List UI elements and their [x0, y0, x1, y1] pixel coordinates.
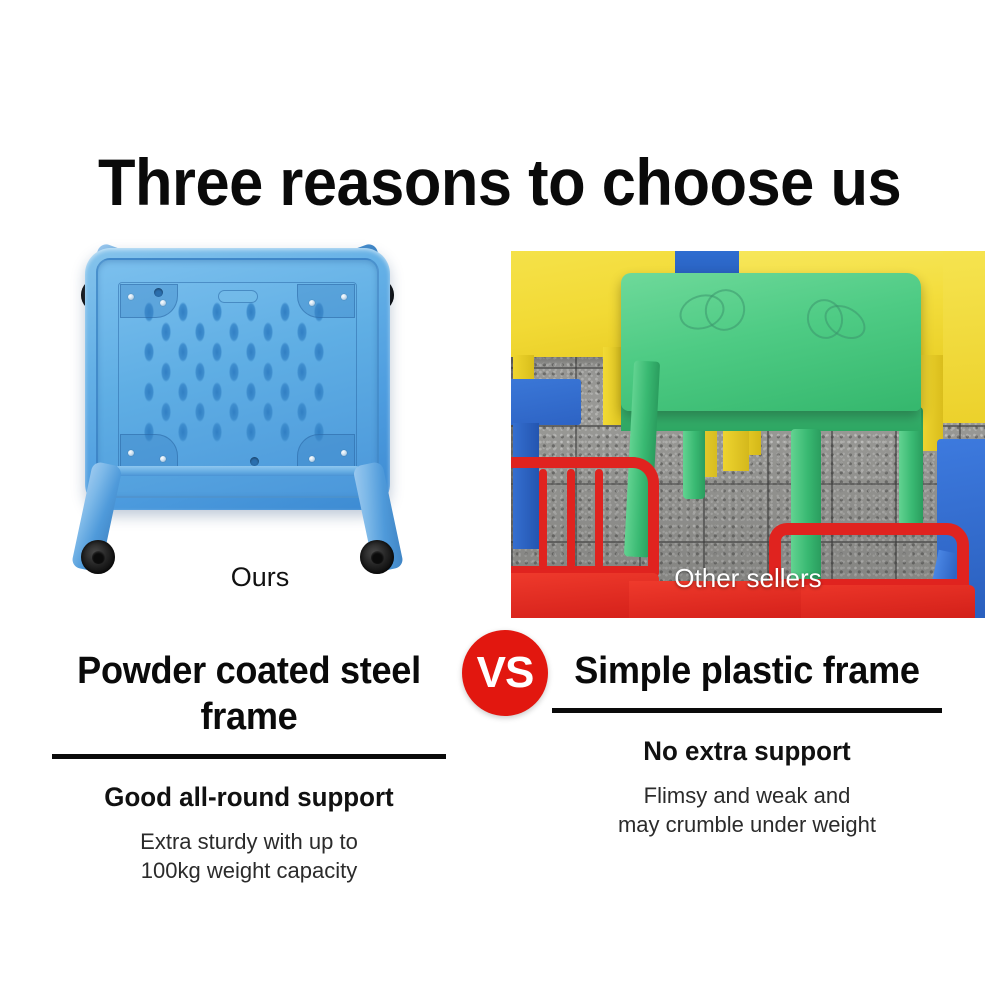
vs-label: VS [477, 651, 534, 695]
screw-4 [309, 300, 315, 306]
feature-subtitle-others: No extra support [521, 735, 972, 767]
handle-slot [218, 290, 258, 303]
vent-hole-top [154, 288, 163, 297]
ours-panel: Ours [30, 240, 490, 630]
blue-table-underside-image [85, 248, 390, 568]
feature-title-others: Simple plastic frame [524, 648, 971, 694]
promo-page: Three reasons to choose us [0, 0, 1000, 1000]
steel-crossbar [114, 466, 361, 476]
corner-bracket-top-left [120, 284, 178, 318]
red-chair-slat-1 [539, 469, 547, 569]
feature-column-others: Simple plastic frame No extra support Fl… [512, 648, 982, 839]
screw-5 [128, 450, 134, 456]
other-sellers-caption: Other sellers [511, 563, 985, 594]
screw-6 [160, 456, 166, 462]
table-body [85, 248, 390, 510]
feature-body-line: Extra sturdy with up to [14, 827, 484, 856]
feature-divider-others [552, 708, 942, 713]
corner-bracket-top-right [297, 284, 355, 318]
vent-hole-bottom [250, 457, 259, 466]
vs-badge: VS [462, 630, 548, 716]
other-sellers-photo: Other sellers [511, 251, 985, 618]
feature-subtitle-ours: Good all-round support [23, 781, 474, 813]
feature-divider-ours [52, 754, 446, 759]
screw-3 [341, 294, 347, 300]
table-rim [96, 258, 379, 498]
page-title: Three reasons to choose us [98, 147, 870, 217]
screw-8 [309, 456, 315, 462]
feature-body-line: Flimsy and weak and [512, 781, 982, 810]
feature-body-others: Flimsy and weak and may crumble under we… [512, 781, 982, 839]
comparison-area: Ours VS [0, 240, 1000, 630]
feature-column-ours: Powder coated steel frame Good all-round… [14, 648, 484, 885]
green-table-top [621, 273, 921, 411]
feature-body-ours: Extra sturdy with up to 100kg weight cap… [14, 827, 484, 885]
screw-7 [341, 450, 347, 456]
blue-chair-left [511, 379, 581, 425]
feature-body-line: 100kg weight capacity [14, 856, 484, 885]
red-chair-slat-3 [595, 469, 603, 569]
yellow-chair-far-right [943, 251, 985, 423]
screw-1 [128, 294, 134, 300]
red-chair-slat-2 [567, 469, 575, 569]
red-chair-left-back [511, 457, 659, 577]
feature-title-ours: Powder coated steel frame [26, 648, 473, 740]
screw-2 [160, 300, 166, 306]
ours-caption: Ours [30, 562, 490, 593]
scribble-mark-2 [698, 283, 752, 338]
feature-body-line: may crumble under weight [512, 810, 982, 839]
